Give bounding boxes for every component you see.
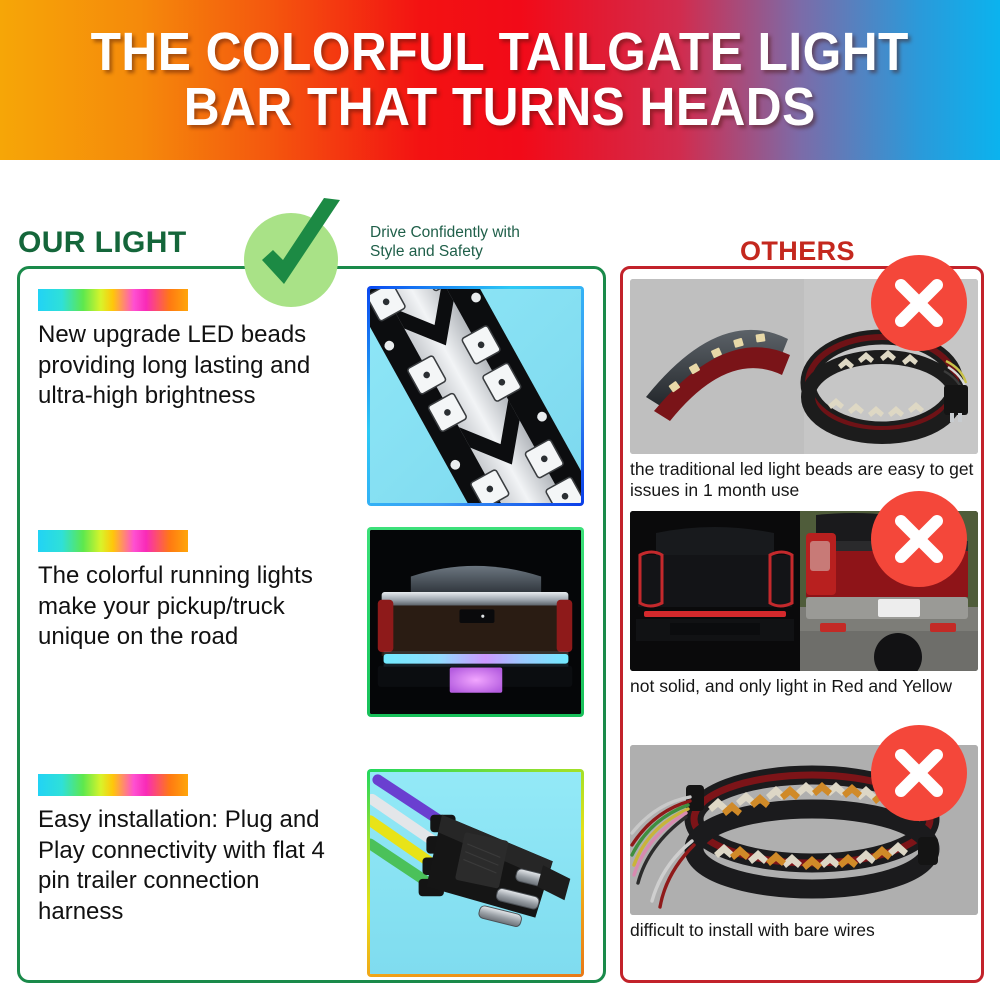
other-caption: not solid, and only light in Red and Yel…	[630, 671, 978, 697]
feature-text: Easy installation: Plug and Play connect…	[38, 805, 350, 928]
x-circle-icon	[871, 491, 967, 587]
others-heading: OTHERS	[740, 236, 855, 267]
feature-image-trailer-connector	[367, 769, 584, 977]
feature-text-column: Easy installation: Plug and Play connect…	[20, 774, 350, 928]
rainbow-accent-bar	[38, 530, 188, 552]
feature-text-column: The colorful running lights make your pi…	[20, 530, 350, 653]
feature-text: New upgrade LED beads providing long las…	[38, 320, 350, 412]
our-light-panel: New upgrade LED beads providing long las…	[17, 266, 606, 983]
tagline-text: Drive Confidently with Style and Safety	[370, 224, 580, 261]
rainbow-accent-bar	[38, 774, 188, 796]
other-caption: difficult to install with bare wires	[630, 915, 978, 941]
rainbow-accent-bar	[38, 289, 188, 311]
header-banner: THE COLORFUL TAILGATE LIGHT BAR THAT TUR…	[0, 0, 1000, 160]
our-light-heading: OUR LIGHT	[18, 226, 187, 260]
page-title: THE COLORFUL TAILGATE LIGHT BAR THAT TUR…	[72, 25, 927, 135]
x-circle-icon	[871, 255, 967, 351]
feature-image-led-beads	[367, 286, 584, 506]
others-panel: the traditional led light beads are easy…	[620, 266, 984, 983]
x-circle-icon	[871, 725, 967, 821]
feature-text: The colorful running lights make your pi…	[38, 561, 350, 653]
check-circle-icon	[236, 198, 346, 308]
feature-image-truck-night	[367, 527, 584, 717]
